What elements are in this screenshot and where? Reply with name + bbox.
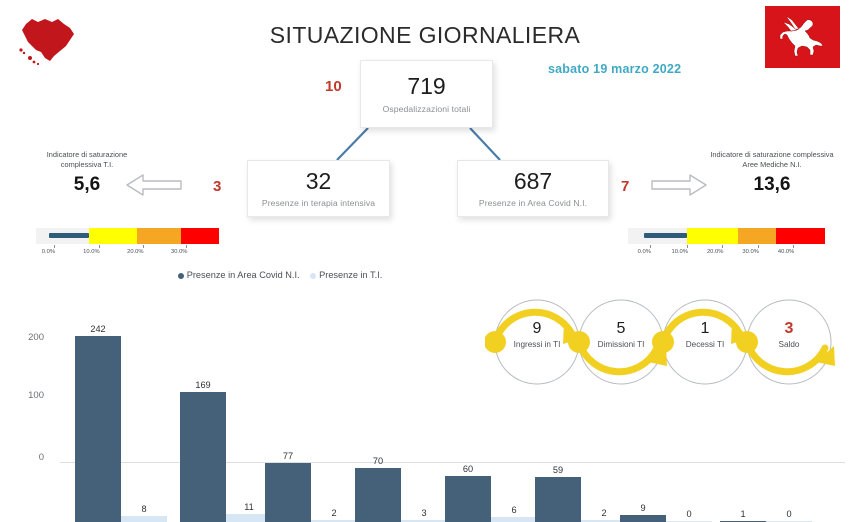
gauge-segment-3 — [181, 228, 219, 244]
flow-node-decessi: 1 Decessi TI — [663, 320, 747, 349]
date-label: sabato 19 marzo 2022 — [548, 62, 681, 76]
flow-node-ingressi: 9 Ingressi in TI — [495, 320, 579, 349]
bar-pair: 16911 — [180, 322, 272, 522]
bar-area-covid[interactable] — [355, 468, 401, 522]
bar-value-label: 2 — [311, 508, 357, 518]
gauge-tick-label: 30.0% — [171, 249, 187, 255]
bar-area-covid[interactable] — [620, 515, 666, 522]
card-total-value: 719 — [407, 74, 445, 98]
y-axis-tick-0: 0 — [14, 452, 44, 463]
bar-area-covid[interactable] — [75, 336, 121, 522]
page-title: SITUAZIONE GIORNALIERA — [0, 22, 850, 49]
bar-group[interactable]: 703901 - AOU Pisana — [355, 322, 447, 522]
bar-value-label: 3 — [401, 508, 447, 518]
gauge-tick-label: 20.0% — [707, 249, 723, 255]
bar-value-label: 0 — [666, 509, 712, 519]
legend-item-ti[interactable]: Presenze in T.I. — [310, 270, 382, 280]
bar-terapia-intensiva[interactable] — [121, 516, 167, 522]
flow-node-value: 5 — [579, 320, 663, 338]
bar-value-label: 60 — [445, 464, 491, 474]
card-covid-area[interactable]: 687 Presenze in Area Covid N.I. — [457, 160, 609, 217]
card-covid-label: Presenze in Area Covid N.I. — [479, 198, 587, 208]
tuscany-pegasus-logo-icon — [765, 6, 840, 68]
arrow-right-icon — [648, 172, 710, 203]
flow-node-value: 3 — [747, 320, 831, 338]
y-axis-tick-100: 100 — [14, 390, 44, 401]
card-covid-value: 687 — [514, 169, 552, 193]
gauge-segment-1 — [89, 228, 137, 244]
gauge-marker — [49, 233, 89, 238]
saturation-ti-gauge: 0.0% 10.0% 20.0% 30.0% — [36, 228, 219, 259]
gauge-tick-label: 10.0% — [83, 249, 99, 255]
flow-node-value: 9 — [495, 320, 579, 338]
gauge-tick-label: 30.0% — [742, 249, 758, 255]
bar-value-label: 0 — [766, 509, 812, 519]
bar-value-label: 59 — [535, 465, 581, 475]
flow-node-label: Dimissioni TI — [579, 340, 663, 349]
bar-area-covid[interactable] — [445, 476, 491, 522]
bar-value-label: 77 — [265, 451, 311, 461]
flow-node-label: Ingressi in TI — [495, 340, 579, 349]
gauge-marker — [644, 233, 687, 238]
gauge-segment-2 — [738, 228, 775, 244]
chart-legend: Presenze in Area Covid N.I. Presenze in … — [0, 270, 560, 280]
bar-value-label: 9 — [620, 503, 666, 513]
card-ti-value: 32 — [306, 169, 332, 193]
bar-value-label: 8 — [121, 504, 167, 514]
legend-item-area-covid[interactable]: Presenze in Area Covid N.I. — [178, 270, 300, 280]
bar-value-label: 70 — [355, 456, 401, 466]
delta-total: 10 — [325, 78, 342, 95]
legend-label: Presenze in Area Covid N.I. — [187, 270, 300, 280]
bar-value-label: 1 — [720, 509, 766, 519]
bar-group[interactable]: 16911ATNO — [180, 322, 272, 522]
gauge-tick-label: 0.0% — [638, 249, 651, 255]
y-axis-tick-200: 200 — [14, 332, 44, 343]
gauge-ticks: 0.0% 10.0% 20.0% 30.0% 40.0% — [628, 245, 825, 259]
gauge-bar — [36, 228, 219, 244]
saturation-medical-value: 13,6 — [708, 174, 836, 196]
legend-dot-icon — [178, 273, 184, 279]
gauge-segment-3 — [776, 228, 825, 244]
bar-area-covid[interactable] — [535, 477, 581, 522]
gauge-tick-label: 20.0% — [127, 249, 143, 255]
bar-area-covid[interactable] — [180, 392, 226, 522]
flow-node-label: Saldo — [747, 340, 831, 349]
bar-group[interactable]: 772ATSE — [265, 322, 357, 522]
dashboard-root: SITUAZIONE GIORNALIERA sabato 19 marzo 2… — [0, 0, 850, 522]
saturation-medical-caption: Indicatore di saturazione complessiva Ar… — [708, 150, 836, 170]
gauge-tick-label: 40.0% — [778, 249, 794, 255]
flow-node-dimissioni: 5 Dimissioni TI — [579, 320, 663, 349]
gauge-tick-label: 10.0% — [672, 249, 688, 255]
gauge-segment-1 — [687, 228, 738, 244]
legend-dot-icon — [310, 273, 316, 279]
bar-pair: 772 — [265, 322, 357, 522]
bar-group[interactable]: 2428ATCE — [75, 322, 167, 522]
gauge-bar — [628, 228, 825, 244]
saturation-indicator-ti: Indicatore di saturazione complessiva T.… — [18, 150, 218, 196]
card-total-hospitalizations[interactable]: 719 Ospedalizzazioni totali — [360, 60, 493, 128]
saturation-ti-caption: Indicatore di saturazione complessiva T.… — [28, 150, 146, 170]
bar-value-label: 242 — [75, 324, 121, 334]
bar-value-label: 6 — [491, 505, 537, 515]
bar-terapia-intensiva[interactable] — [491, 517, 537, 522]
legend-label: Presenze in T.I. — [319, 270, 382, 280]
gauge-segment-2 — [137, 228, 181, 244]
bar-value-label: 169 — [180, 380, 226, 390]
bar-pair: 2428 — [75, 322, 167, 522]
card-intensive-care[interactable]: 32 Presenze in terapia intensiva — [247, 160, 390, 217]
gauge-ticks: 0.0% 10.0% 20.0% 30.0% — [36, 245, 219, 259]
bar-pair: 703 — [355, 322, 447, 522]
saturation-indicator-medical-areas: Indicatore di saturazione complessiva Ar… — [620, 150, 835, 196]
card-total-label: Ospedalizzazioni totali — [383, 104, 471, 114]
card-ti-label: Presenze in terapia intensiva — [262, 198, 375, 208]
ti-flow-diagram: 9 Ingressi in TI 5 Dimissioni TI 1 Deces… — [485, 292, 850, 392]
arrow-left-icon — [123, 172, 185, 203]
flow-node-label: Decessi TI — [663, 340, 747, 349]
bar-area-covid[interactable] — [265, 463, 311, 522]
flow-node-value: 1 — [663, 320, 747, 338]
gauge-tick-label: 0.0% — [42, 249, 55, 255]
flow-node-saldo: 3 Saldo — [747, 320, 831, 349]
saturation-medical-gauge: 0.0% 10.0% 20.0% 30.0% 40.0% — [628, 228, 825, 259]
